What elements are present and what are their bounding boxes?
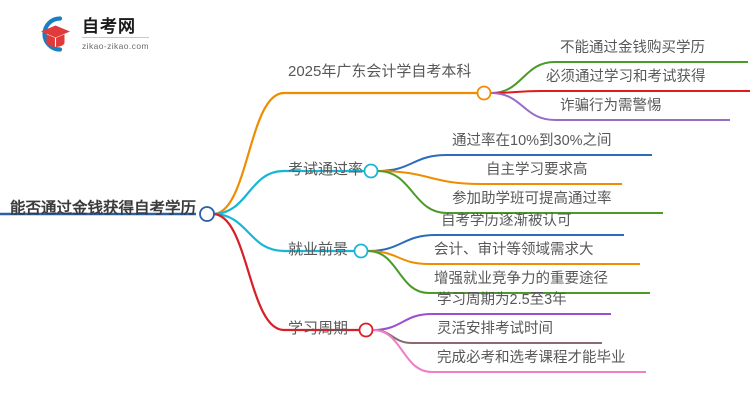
leaf-label-2-3[interactable]: 参加助学班可提高通过率 bbox=[452, 192, 612, 208]
leaf-label-4-2[interactable]: 灵活安排考试时间 bbox=[437, 322, 553, 338]
leaf-label-2-2[interactable]: 自主学习要求高 bbox=[486, 163, 588, 179]
root-node-label[interactable]: 能否通过金钱获得自考学历 bbox=[10, 200, 196, 217]
leaf-label-3-2[interactable]: 会计、审计等领域需求大 bbox=[434, 243, 594, 259]
leaf-label-1-2[interactable]: 必须通过学习和考试获得 bbox=[546, 70, 706, 86]
leaf-label-1-1[interactable]: 不能通过金钱购买学历 bbox=[560, 41, 705, 57]
branch-label-3[interactable]: 就业前景 bbox=[288, 242, 348, 259]
leaf-label-1-3[interactable]: 诈骗行为需警惕 bbox=[560, 99, 662, 115]
leaf-label-4-3[interactable]: 完成必考和选考课程才能毕业 bbox=[437, 351, 626, 367]
branch-label-4[interactable]: 学习周期 bbox=[288, 321, 348, 338]
branch-label-2[interactable]: 考试通过率 bbox=[288, 162, 363, 179]
leaf-label-4-1[interactable]: 学习周期为2.5至3年 bbox=[437, 293, 567, 309]
leaf-label-2-1[interactable]: 通过率在10%到30%之间 bbox=[452, 134, 612, 150]
mindmap-canvas: 能否通过金钱获得自考学历 2025年广东会计学自考本科 不能通过金钱购买学历 必… bbox=[0, 0, 750, 410]
leaf-label-3-1[interactable]: 自考学历逐渐被认可 bbox=[441, 214, 572, 230]
leaf-label-3-3[interactable]: 增强就业竞争力的重要途径 bbox=[434, 272, 608, 288]
branch-label-1[interactable]: 2025年广东会计学自考本科 bbox=[288, 64, 471, 81]
